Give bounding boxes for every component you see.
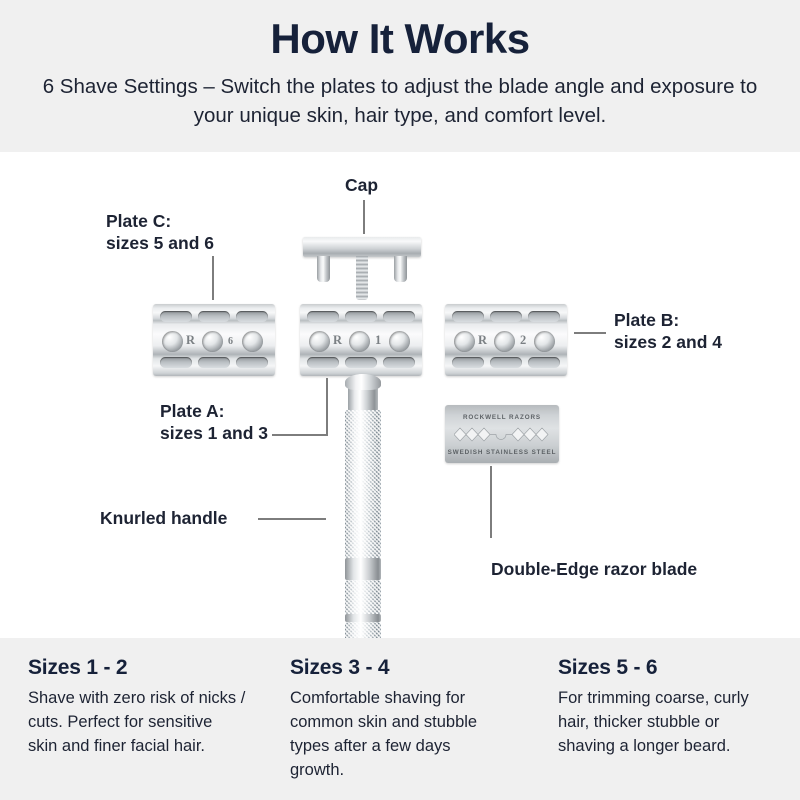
footer-heading-sizes-1-2: Sizes 1 - 2: [28, 656, 246, 680]
plate-hole: [162, 331, 183, 352]
plate-slot: [160, 357, 192, 368]
label-knurled-handle: Knurled handle: [100, 507, 227, 529]
blade-slot-shape: [454, 426, 550, 443]
plate-b-holes: R 2: [454, 331, 558, 353]
handle-polished-band: [345, 558, 381, 580]
cap-post-right: [394, 256, 407, 282]
label-plate-a: Plate A: sizes 1 and 3: [160, 400, 268, 444]
plate-slot: [528, 311, 560, 322]
razor-exploded-diagram: Plate C: sizes 5 and 6 Cap R: [0, 152, 800, 638]
footer-heading-sizes-5-6: Sizes 5 - 6: [558, 656, 776, 680]
double-edge-blade-part: ROCKWELL RAZORS SWEDISH STAINLESS STEEL: [445, 405, 559, 463]
label-plate-a-line1: Plate A:: [160, 400, 268, 422]
plate-slot: [345, 311, 377, 322]
plate-hole: [242, 331, 263, 352]
cap-post-left: [317, 256, 330, 282]
plate-b-part: R 2: [445, 304, 567, 376]
cap-bar: [303, 237, 421, 257]
footer-body-sizes-5-6: For trimming coarse, curly hair, thicker…: [558, 687, 776, 759]
footer-column-sizes-3-4: Sizes 3 - 4 Comfortable shaving for comm…: [290, 656, 508, 783]
leader-line-knurled-handle: [258, 518, 326, 520]
footer-band: Sizes 1 - 2 Shave with zero risk of nick…: [0, 638, 800, 800]
plate-hole: [454, 331, 475, 352]
plate-hole: [494, 331, 515, 352]
label-plate-c: Plate C: sizes 5 and 6: [106, 210, 214, 254]
plate-a-mark-number: 1: [375, 333, 381, 348]
handle-knurled-upper: [345, 410, 381, 558]
label-plate-c-line1: Plate C:: [106, 210, 214, 232]
plate-hole: [534, 331, 555, 352]
footer-column-sizes-1-2: Sizes 1 - 2 Shave with zero risk of nick…: [28, 656, 246, 759]
blade-brand-text: ROCKWELL RAZORS: [445, 414, 559, 421]
leader-line-plate-a-vertical: [326, 378, 328, 436]
plate-a-slots-bottom: [307, 357, 415, 368]
footer-body-sizes-3-4: Comfortable shaving for common skin and …: [290, 687, 508, 783]
page-title: How It Works: [270, 16, 529, 62]
cap-threaded-screw: [356, 256, 368, 300]
label-cap: Cap: [345, 174, 378, 196]
plate-hole: [349, 331, 370, 352]
footer-heading-sizes-3-4: Sizes 3 - 4: [290, 656, 508, 680]
leader-line-plate-c: [212, 256, 214, 300]
blade-center-slot: [454, 426, 550, 443]
plate-c-mark-number: 6: [228, 336, 233, 347]
plate-c-mark-letter: R: [186, 333, 195, 348]
plate-a-slots-top: [307, 311, 415, 322]
plate-hole: [309, 331, 330, 352]
header-band: How It Works 6 Shave Settings – Switch t…: [0, 0, 800, 152]
plate-slot: [198, 311, 230, 322]
footer-column-sizes-5-6: Sizes 5 - 6 For trimming coarse, curly h…: [558, 656, 776, 759]
plate-c-holes: R 6: [162, 331, 266, 353]
leader-line-plate-a-horizontal: [272, 434, 328, 436]
plate-b-mark-number: 2: [520, 333, 526, 348]
plate-b-mark-letter: R: [478, 333, 487, 348]
plate-b-slots-top: [452, 311, 560, 322]
page-subtitle: 6 Shave Settings – Switch the plates to …: [40, 72, 760, 130]
plate-slot: [307, 357, 339, 368]
infographic-page: How It Works 6 Shave Settings – Switch t…: [0, 0, 800, 800]
plate-a-mark-letter: R: [333, 333, 342, 348]
handle-knurled-mid: [345, 580, 381, 614]
leader-line-plate-b: [574, 332, 606, 334]
handle-polished-ring: [345, 614, 381, 622]
label-plate-b: Plate B: sizes 2 and 4: [614, 309, 722, 353]
label-plate-c-line2: sizes 5 and 6: [106, 232, 214, 254]
plate-c-slots-top: [160, 311, 268, 322]
plate-slot: [345, 357, 377, 368]
plate-hole: [202, 331, 223, 352]
label-plate-b-line2: sizes 2 and 4: [614, 331, 722, 353]
razor-cap-part: [303, 237, 421, 301]
leader-line-cap: [363, 200, 365, 234]
plate-slot: [198, 357, 230, 368]
plate-slot: [307, 311, 339, 322]
plate-c-slots-bottom: [160, 357, 268, 368]
plate-slot: [490, 311, 522, 322]
plate-b-slots-bottom: [452, 357, 560, 368]
plate-a-holes: R 1: [309, 331, 413, 353]
label-plate-a-line2: sizes 1 and 3: [160, 422, 268, 444]
plate-c-part: R 6: [153, 304, 275, 376]
handle-flare-top: [345, 374, 381, 390]
leader-line-blade: [490, 466, 492, 538]
footer-body-sizes-1-2: Shave with zero risk of nicks / cuts. Pe…: [28, 687, 246, 759]
label-plate-b-line1: Plate B:: [614, 309, 722, 331]
plate-slot: [383, 311, 415, 322]
plate-hole: [389, 331, 410, 352]
plate-slot: [452, 357, 484, 368]
plate-slot: [236, 357, 268, 368]
plate-slot: [490, 357, 522, 368]
plate-slot: [383, 357, 415, 368]
label-double-edge-blade: Double-Edge razor blade: [491, 558, 697, 580]
plate-slot: [528, 357, 560, 368]
plate-a-part: R 1: [300, 304, 422, 376]
plate-slot: [452, 311, 484, 322]
blade-material-text: SWEDISH STAINLESS STEEL: [445, 449, 559, 456]
plate-slot: [236, 311, 268, 322]
plate-slot: [160, 311, 192, 322]
